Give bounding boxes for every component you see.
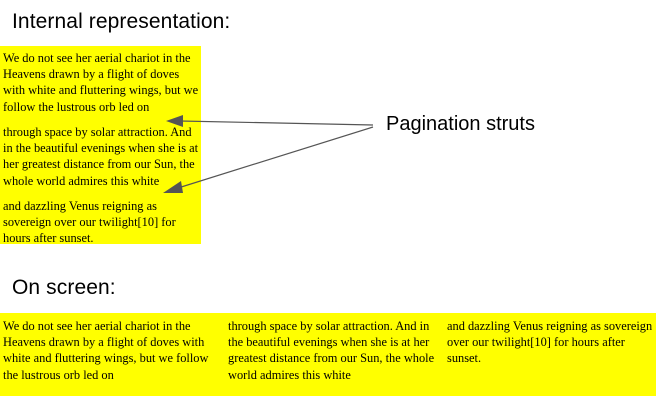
internal-representation-heading: Internal representation: xyxy=(12,10,230,34)
internal-paragraph-1: We do not see her aerial chariot in the … xyxy=(3,50,200,115)
on-screen-column-3: and dazzling Venus reigning as sovereign… xyxy=(447,318,657,367)
internal-representation-highlight-block: We do not see her aerial chariot in the … xyxy=(0,46,201,244)
on-screen-column-1: We do not see her aerial chariot in the … xyxy=(3,318,213,383)
on-screen-column-2: through space by solar attraction. And i… xyxy=(228,318,438,383)
on-screen-highlight-band: We do not see her aerial chariot in the … xyxy=(0,313,656,396)
internal-paragraph-3: and dazzling Venus reigning as sovereign… xyxy=(3,198,200,247)
internal-paragraph-2: through space by solar attraction. And i… xyxy=(3,124,200,189)
on-screen-heading: On screen: xyxy=(12,276,116,300)
pagination-struts-label: Pagination struts xyxy=(386,113,535,136)
